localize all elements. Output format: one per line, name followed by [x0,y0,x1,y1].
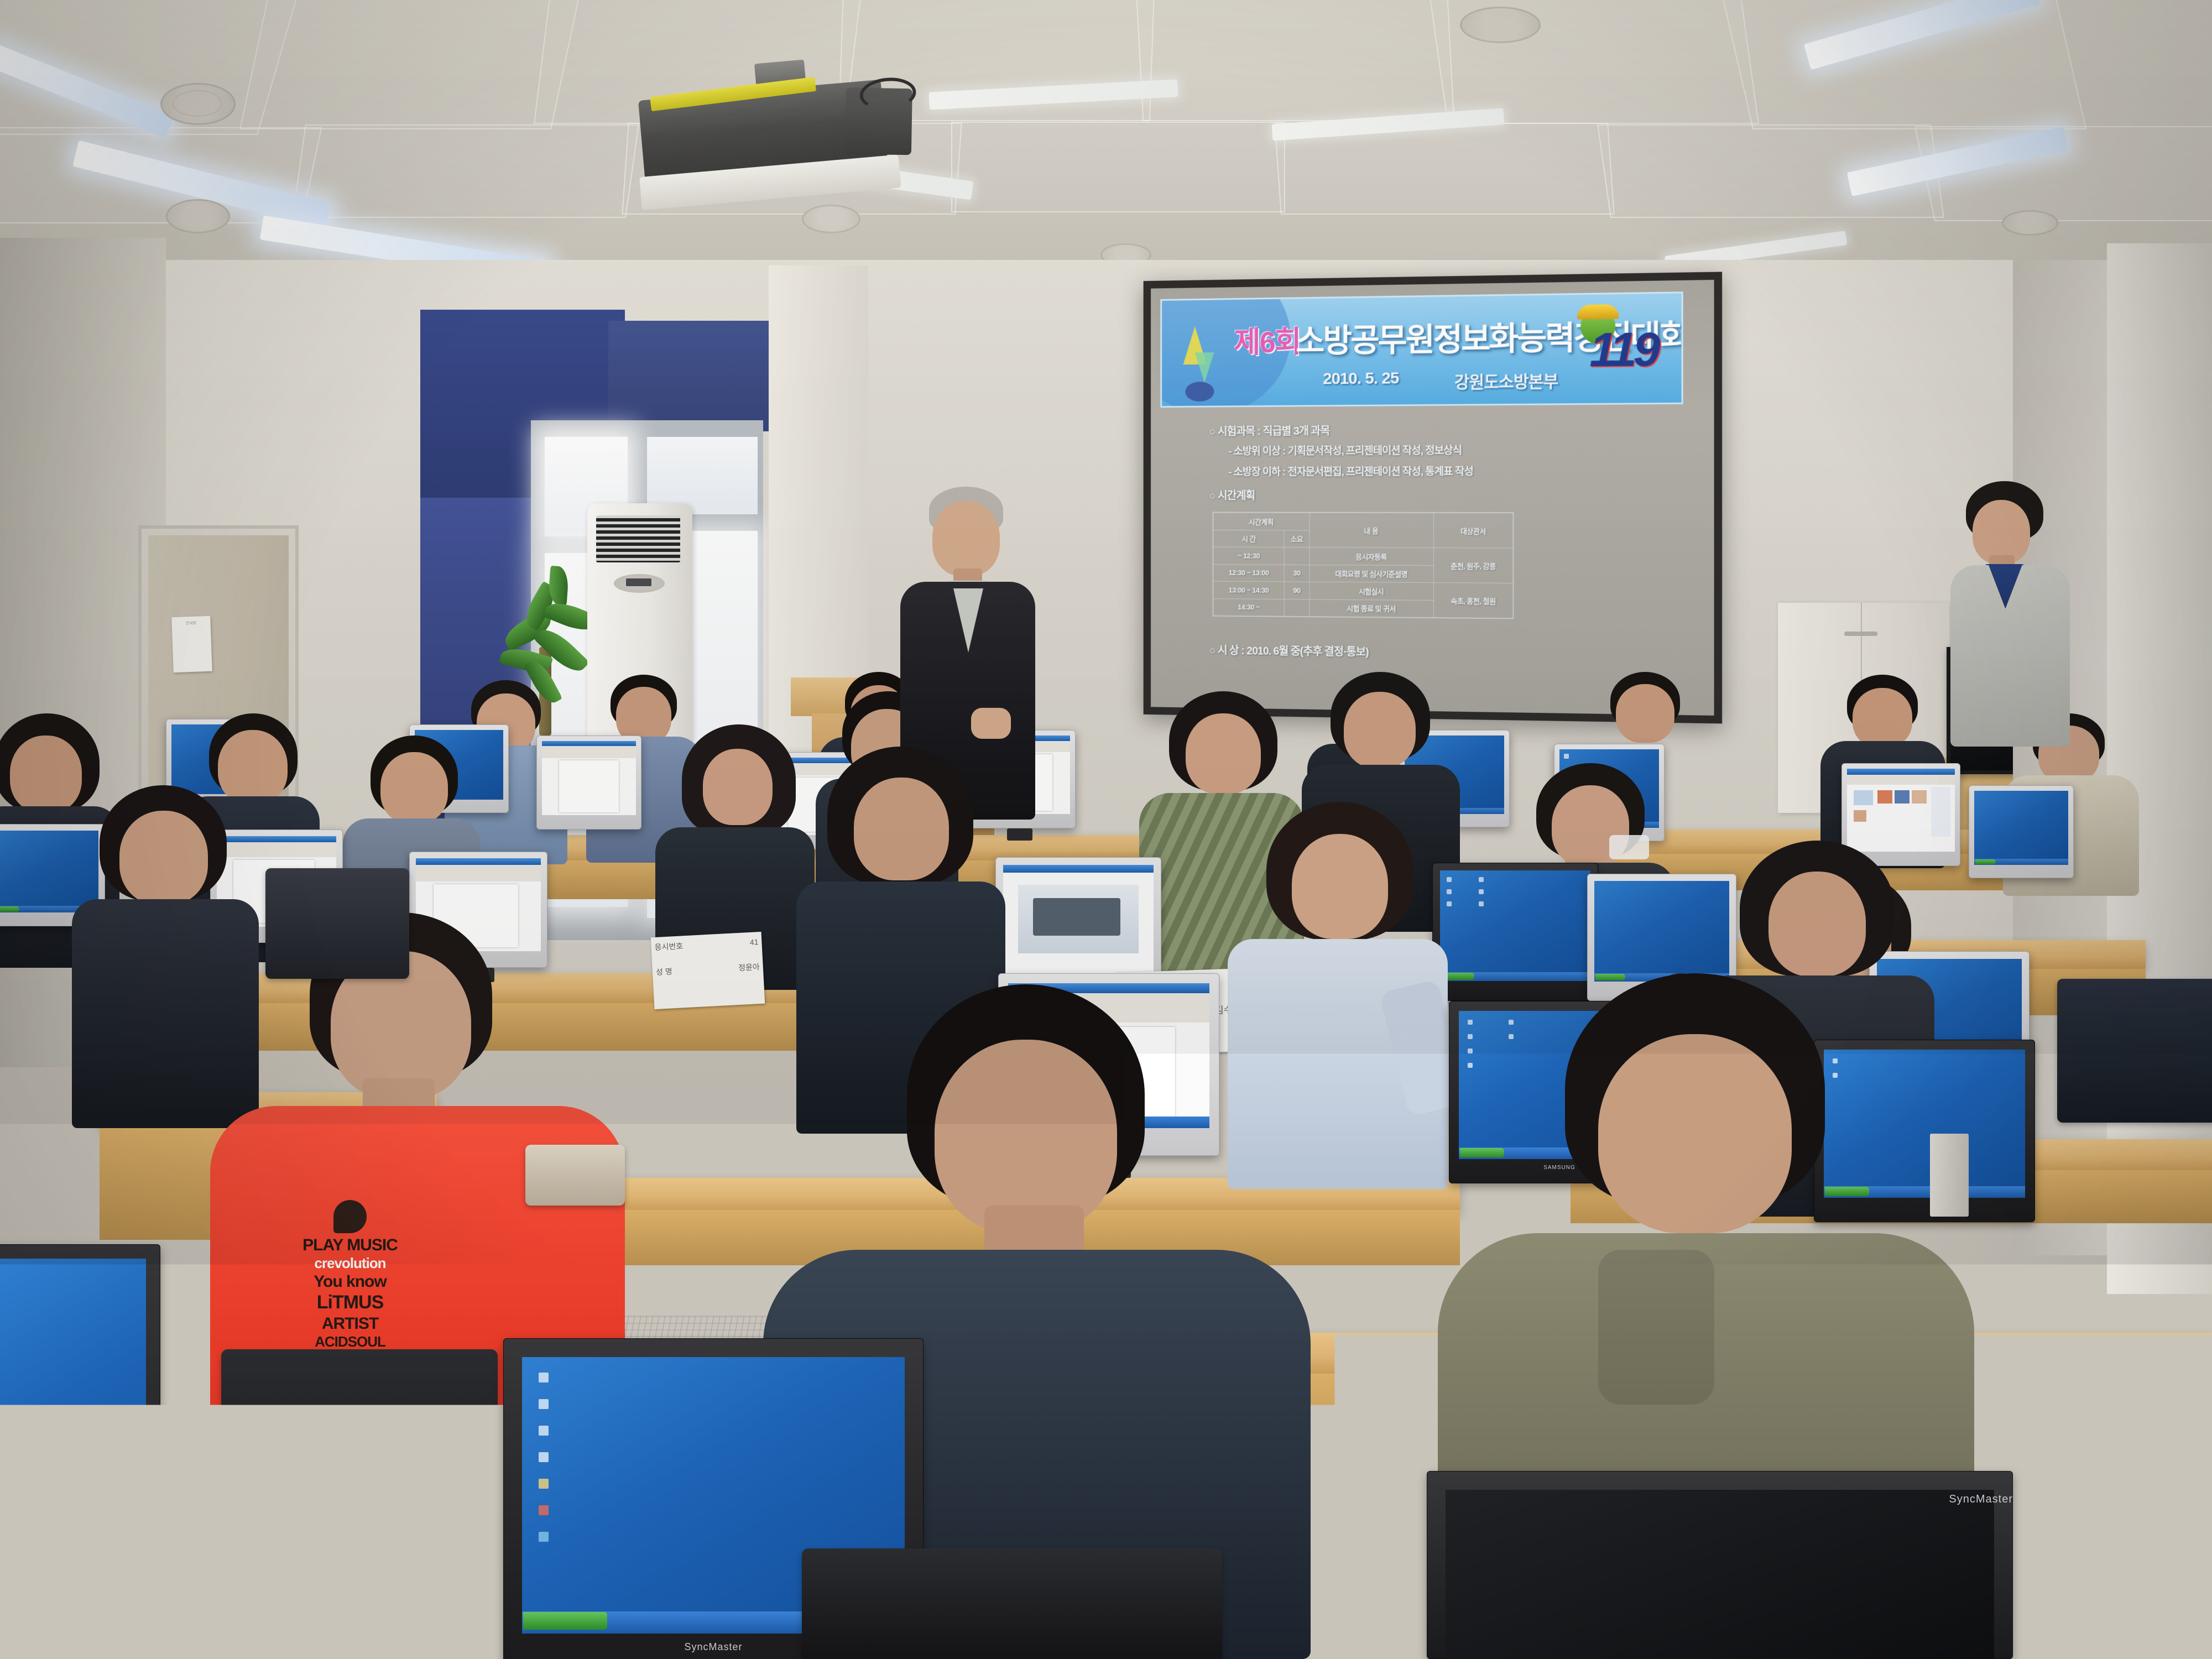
tshirt-line-2: crevolution [281,1255,419,1272]
ceiling-sprinkler-icon [802,205,860,233]
cell-office: 속초, 홍천, 철원 [1434,583,1513,618]
projected-slide: 제6회 소방공무원정보화능력경진대회 2010. 5. 25 강원도소방본부 1… [1151,280,1714,716]
slide-bullet-4: ○ 시간계획 [1209,487,1255,503]
mascot-119-icon: 119 [1577,302,1673,401]
monitor[interactable] [0,1244,160,1631]
tshirt-line-6: ACIDSOUL [281,1333,419,1350]
monitor-model: SyncMaster [1427,1493,2046,1506]
table-group-header: 시간계획 [1213,513,1310,530]
tshirt-line-3: You know [314,1272,386,1291]
cell-content: 응시자등록 [1310,547,1434,565]
cell-content: 시험 종료 및 귀서 [1310,599,1434,617]
slide-bullet-3: - 소방장 이하 : 전자문서편집, 프리젠테이션 작성, 통계표 작성 [1229,463,1473,479]
name-card-number-label: 응시번호 [654,938,684,954]
monitor[interactable]: SyncMaster [1427,1471,2013,1659]
mascot-number: 119 [1589,322,1657,378]
cell-duration: 90 [1284,582,1309,599]
schedule-table: 시간계획 내 용 대상관서 시 간 소요 ~ 12:30 응시자등록 춘천, 원… [1213,512,1514,619]
cell-office: 춘천, 원주, 강릉 [1434,548,1513,583]
tshirt-logo-icon [333,1200,367,1233]
table-row: 13:00 ~ 14:30 90 시험실시 속초, 홍천, 철원 [1213,581,1513,601]
cell-duration [1284,599,1309,617]
monitor[interactable] [536,735,641,830]
classroom-photo: 안내문 제6회 소방공무원정보화능력경진대회 2010. 5. 25 강원도소방… [0,0,2212,1659]
slide-organizer: 강원도소방본부 [1454,368,1558,393]
slide-banner: 제6회 소방공무원정보화능력경진대회 2010. 5. 25 강원도소방본부 1… [1160,291,1683,408]
slide-date: 2010. 5. 25 [1323,369,1399,388]
pencil-case[interactable] [525,1145,625,1206]
presenter-hand [971,708,1011,739]
face-mask [1609,835,1649,859]
cell-content: 시험실시 [1310,582,1434,600]
air-conditioner-grille [596,515,680,562]
cabinet-handle[interactable] [1844,632,1877,636]
name-card-name-label: 성 명 [655,964,672,979]
tshirt-line-1: PLAY MUSIC [281,1235,419,1255]
cell-time: 14:30 ~ [1213,598,1284,616]
door-notice: 안내문 [171,616,212,672]
tshirt-print: PLAY MUSIC crevolution You know LiTMUS A… [281,1200,419,1360]
staff-person [1949,481,2071,747]
table-header-duration: 소요 [1284,530,1309,547]
window-pane [647,437,758,514]
cell-time: 13:00 ~ 14:30 [1213,581,1284,599]
bag[interactable] [265,868,409,979]
name-card-number: 41 [749,935,759,950]
tshirt-line-4: LiTMUS [281,1291,419,1313]
cell-duration: 30 [1284,565,1309,582]
table-header-office: 대상관서 [1434,513,1513,549]
tshirt-line-5: ARTIST [281,1314,419,1333]
cell-duration [1284,547,1309,565]
ceiling [0,0,2212,288]
table-header-time: 시 간 [1213,530,1284,547]
browser-window[interactable] [1847,769,1955,852]
cell-time: 12:30 ~ 13:00 [1213,564,1284,582]
chair[interactable] [802,1548,1222,1659]
ceiling-speaker-icon [166,199,230,233]
air-conditioner-display [614,574,665,593]
ceiling-vent-icon [1460,7,1541,43]
slide-bullet-2: - 소방위 이상 : 기획문서작성, 프리젠테이션 작성, 정보상식 [1229,442,1462,458]
backpack[interactable] [188,1427,531,1659]
table-header-content: 내 용 [1310,513,1434,547]
slide-ordinal: 제6회 [1234,317,1300,361]
cell-content: 대회요령 및 심사기준설명 [1310,565,1434,583]
backpack[interactable] [2057,979,2212,1123]
monitor[interactable] [1969,785,2074,878]
ceiling-projector [636,55,923,211]
slide-bullet-1: ○ 시험과목 : 직급별 3개 과목 [1209,422,1330,439]
slide-footer: ○ 시 상 : 2010. 6월 중(추후 결정·통보) [1209,641,1369,659]
table-row: ~ 12:30 응시자등록 춘천, 원주, 강릉 [1213,547,1513,566]
name-card-name: 정윤아 [738,959,760,975]
projection-screen: 제6회 소방공무원정보화능력경진대회 2010. 5. 25 강원도소방본부 1… [1144,272,1722,724]
image-viewer-window[interactable] [1003,865,1154,975]
ceiling-speaker-icon [2002,210,2058,236]
name-card: 응시번호 41 성 명 정윤아 [651,932,765,1009]
cell-time: ~ 12:30 [1213,547,1284,565]
